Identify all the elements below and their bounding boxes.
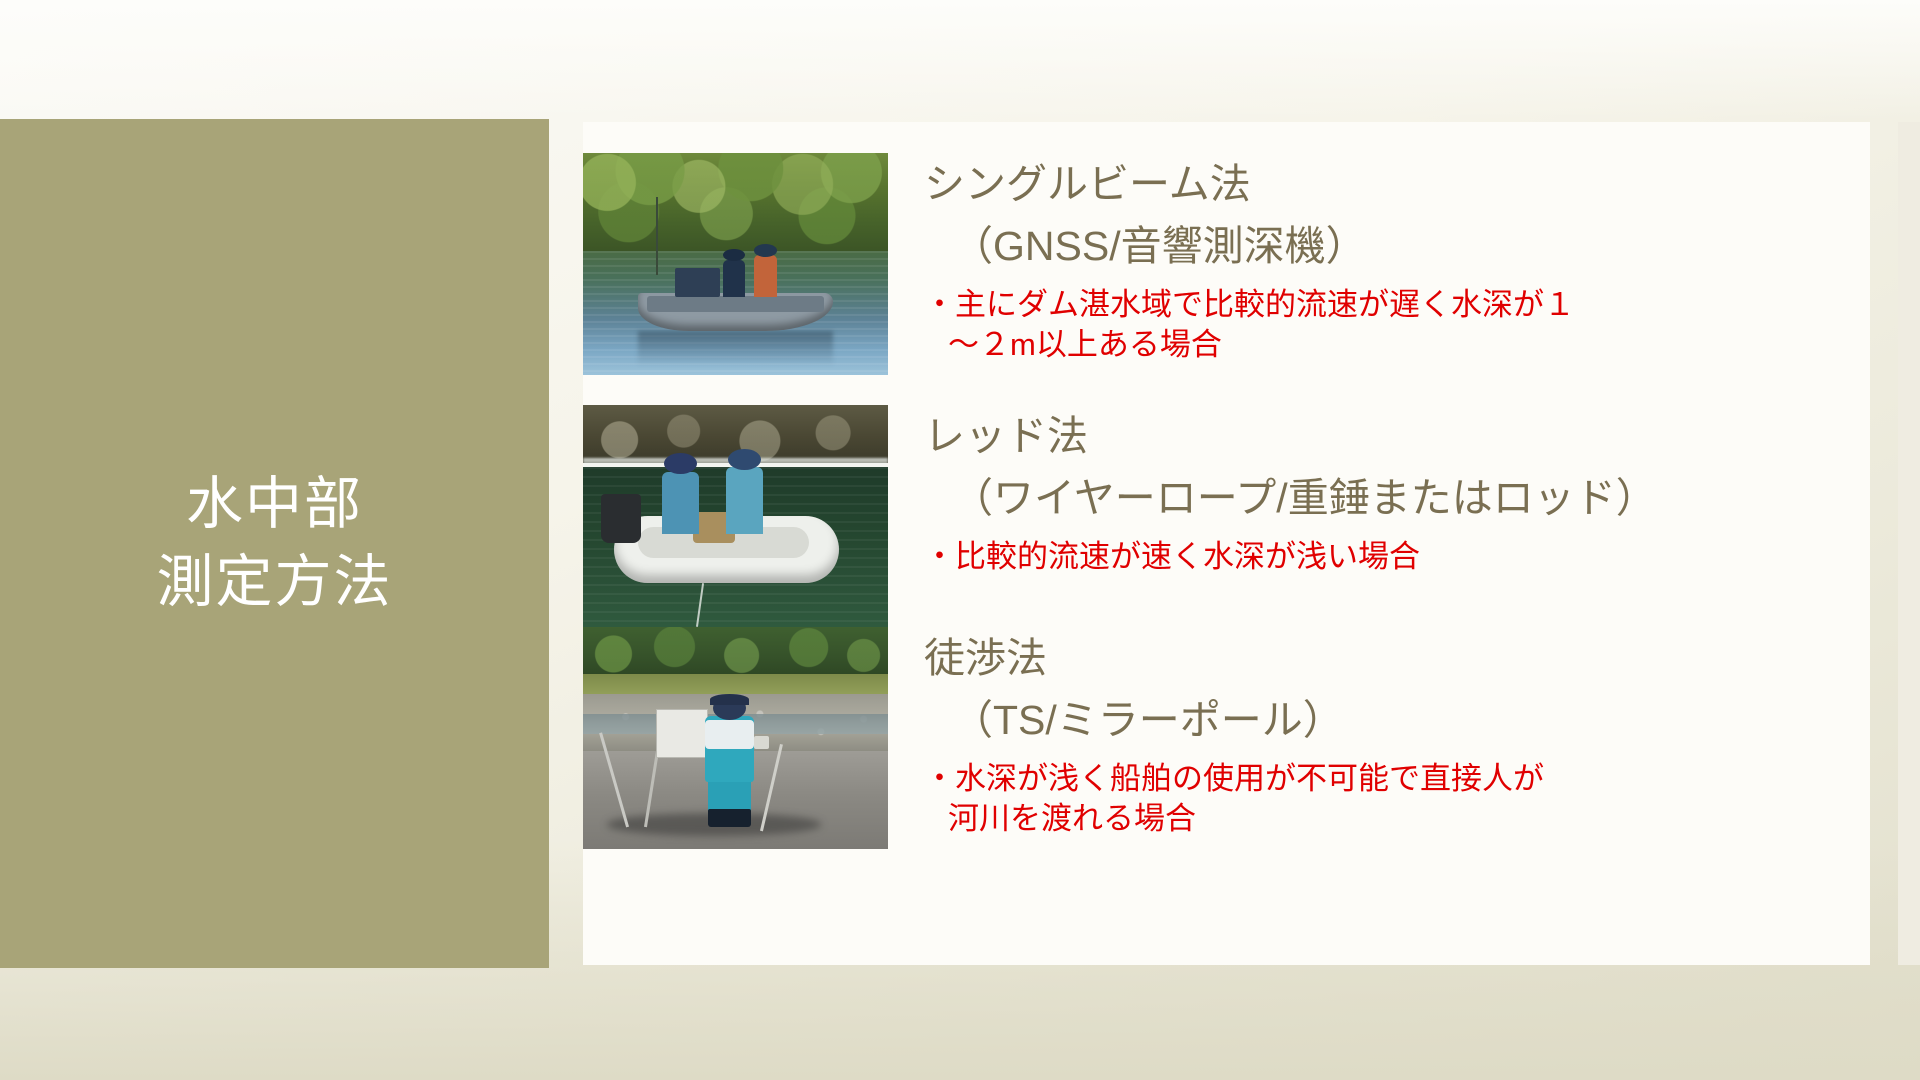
method-photo-lead-line [583,405,888,627]
method-text-wading: 徒渉法 （TS/ミラーポール） ・水深が浅く船舶の使用が不可能で直接人が 河川を… [924,627,1544,840]
page-title-line-2: 測定方法 [157,544,393,622]
method-bullet-line-1: ・主にダム湛水域で比較的流速が遅く水深が１ [924,287,1575,322]
methods-content-card: シングルビーム法 （GNSS/音響測深機） ・主にダム湛水域で比較的流速が遅く水… [583,122,1870,965]
method-row-single-beam: シングルビーム法 （GNSS/音響測深機） ・主にダム湛水域で比較的流速が遅く水… [583,153,1575,375]
page-title: 水中部 測定方法 [157,466,393,621]
method-bullet-line-1: ・比較的流速が速く水深が浅い場合 [924,539,1420,574]
slide-title-panel: 水中部 測定方法 [0,119,549,968]
method-text-single-beam: シングルビーム法 （GNSS/音響測深機） ・主にダム湛水域で比較的流速が遅く水… [924,153,1575,366]
method-photo-single-beam [583,153,888,375]
method-bullet: ・水深が浅く船舶の使用が不可能で直接人が 河川を渡れる場合 [924,759,1544,840]
method-heading: シングルビーム法 [924,159,1575,209]
page-title-line-1: 水中部 [157,466,393,544]
method-bullet-line-2: 〜２m以上ある場合 [948,325,1575,365]
method-bullet-line-2: 河川を渡れる場合 [948,799,1544,839]
method-subheading: （ワイヤーロープ/重錘またはロッド） [952,473,1657,523]
method-subheading: （TS/ミラーポール） [952,695,1544,745]
method-subheading: （GNSS/音響測深機） [952,221,1575,271]
method-heading: レッド法 [924,411,1657,461]
method-bullet: ・比較的流速が速く水深が浅い場合 [924,537,1624,577]
method-text-lead-line: レッド法 （ワイヤーロープ/重錘またはロッド） ・比較的流速が速く水深が浅い場合 [924,405,1657,577]
method-heading: 徒渉法 [924,633,1544,683]
method-row-lead-line: レッド法 （ワイヤーロープ/重錘またはロッド） ・比較的流速が速く水深が浅い場合 [583,405,1657,627]
method-bullet: ・主にダム湛水域で比較的流速が遅く水深が１ 〜２m以上ある場合 [924,285,1575,366]
method-photo-wading [583,627,888,849]
slide-right-edge-strip [1898,122,1920,965]
method-bullet-line-1: ・水深が浅く船舶の使用が不可能で直接人が [924,761,1544,796]
method-row-wading: 徒渉法 （TS/ミラーポール） ・水深が浅く船舶の使用が不可能で直接人が 河川を… [583,627,1544,849]
background-gradient-top [0,0,1920,120]
presentation-slide: 水中部 測定方法 [0,0,1920,1080]
